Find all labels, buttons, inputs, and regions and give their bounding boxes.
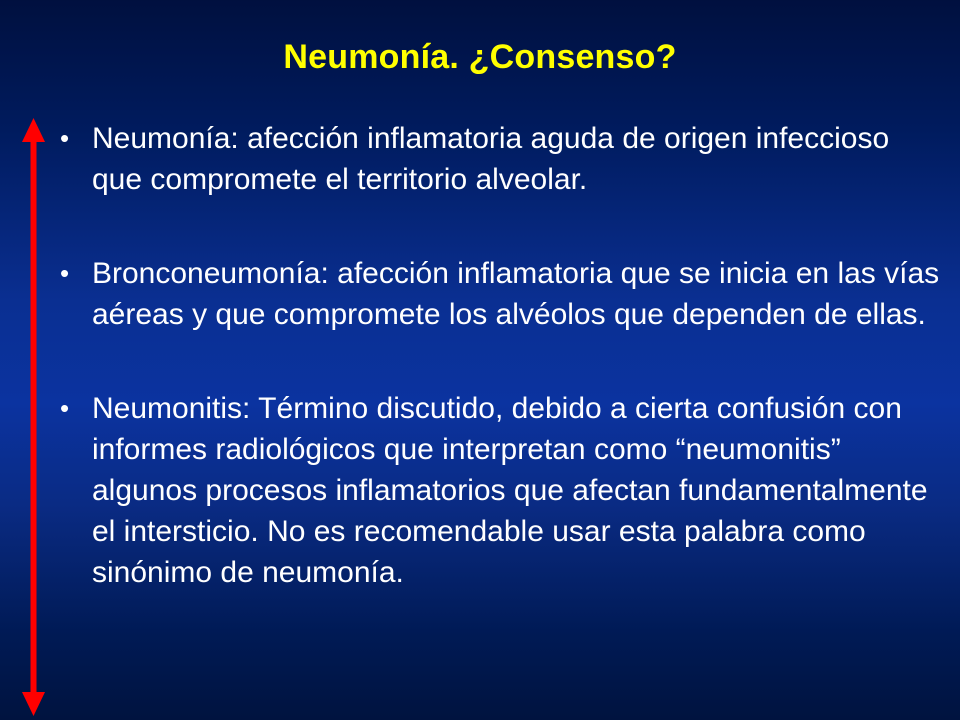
double-headed-vertical-arrow-icon	[14, 118, 54, 716]
bullet-point-icon: •	[60, 253, 80, 294]
list-item: • Bronconeumonía: afección inflamatoria …	[56, 253, 946, 335]
bullet-point-icon: •	[60, 388, 80, 429]
list-item-text: Bronconeumonía: afección inflamatoria qu…	[92, 253, 946, 335]
page-title: Neumonía. ¿Consenso?	[0, 38, 960, 77]
slide-canvas: Neumonía. ¿Consenso? • Neumonía: afecció…	[0, 0, 960, 720]
bullet-point-icon: •	[60, 118, 80, 159]
list-item: • Neumonitis: Término discutido, debido …	[56, 388, 946, 593]
list-item-text: Neumonitis: Término discutido, debido a …	[92, 388, 946, 593]
bullet-list: • Neumonía: afección inflamatoria aguda …	[56, 118, 946, 593]
list-item: • Neumonía: afección inflamatoria aguda …	[56, 118, 946, 200]
list-item-text: Neumonía: afección inflamatoria aguda de…	[92, 118, 946, 200]
